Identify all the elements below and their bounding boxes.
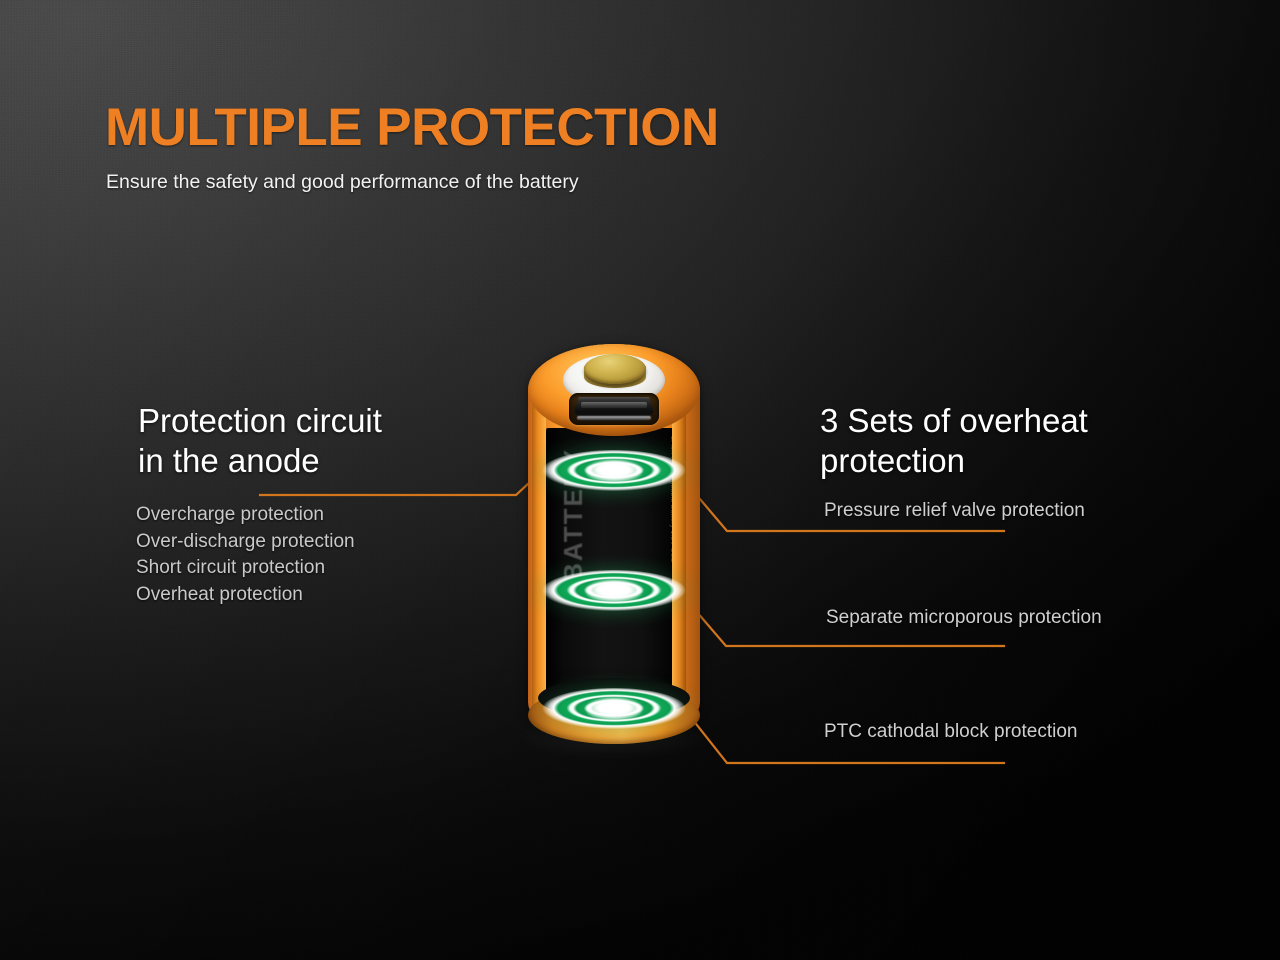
battery-positive-terminal bbox=[584, 354, 646, 384]
overheat-protection-ring bbox=[542, 570, 686, 612]
overheat-protection-ring bbox=[542, 688, 686, 730]
callout-label-separate-microporous: Separate microporous protection bbox=[826, 607, 1102, 629]
bullet-item: Over-discharge protection bbox=[136, 529, 355, 556]
callout-label-pressure-relief-valve: Pressure relief valve protection bbox=[824, 500, 1085, 522]
battery-illustration: BATTERY Li-ion Rechargeable Battery 1.5V… bbox=[508, 330, 718, 780]
slide-canvas: MULTIPLE PROTECTION Ensure the safety an… bbox=[0, 0, 1280, 960]
callout-heading-right: 3 Sets of overheat protection bbox=[820, 401, 1088, 481]
micro-usb-port-icon bbox=[569, 393, 659, 425]
callout-label-ptc-cathodal-block: PTC cathodal block protection bbox=[824, 721, 1077, 743]
usb-port-lip bbox=[577, 416, 651, 420]
bullet-item: Overcharge protection bbox=[136, 502, 355, 529]
page-title: MULTIPLE PROTECTION bbox=[105, 97, 719, 158]
usb-port-tongue bbox=[581, 402, 647, 408]
bullet-item: Short circuit protection bbox=[136, 555, 355, 582]
callout-bullet-list-left: Overcharge protection Over-discharge pro… bbox=[136, 502, 355, 608]
callout-heading-left: Protection circuit in the anode bbox=[138, 401, 382, 481]
overheat-protection-ring bbox=[542, 450, 686, 492]
page-subtitle: Ensure the safety and good performance o… bbox=[106, 171, 579, 194]
bullet-item: Overheat protection bbox=[136, 582, 355, 609]
